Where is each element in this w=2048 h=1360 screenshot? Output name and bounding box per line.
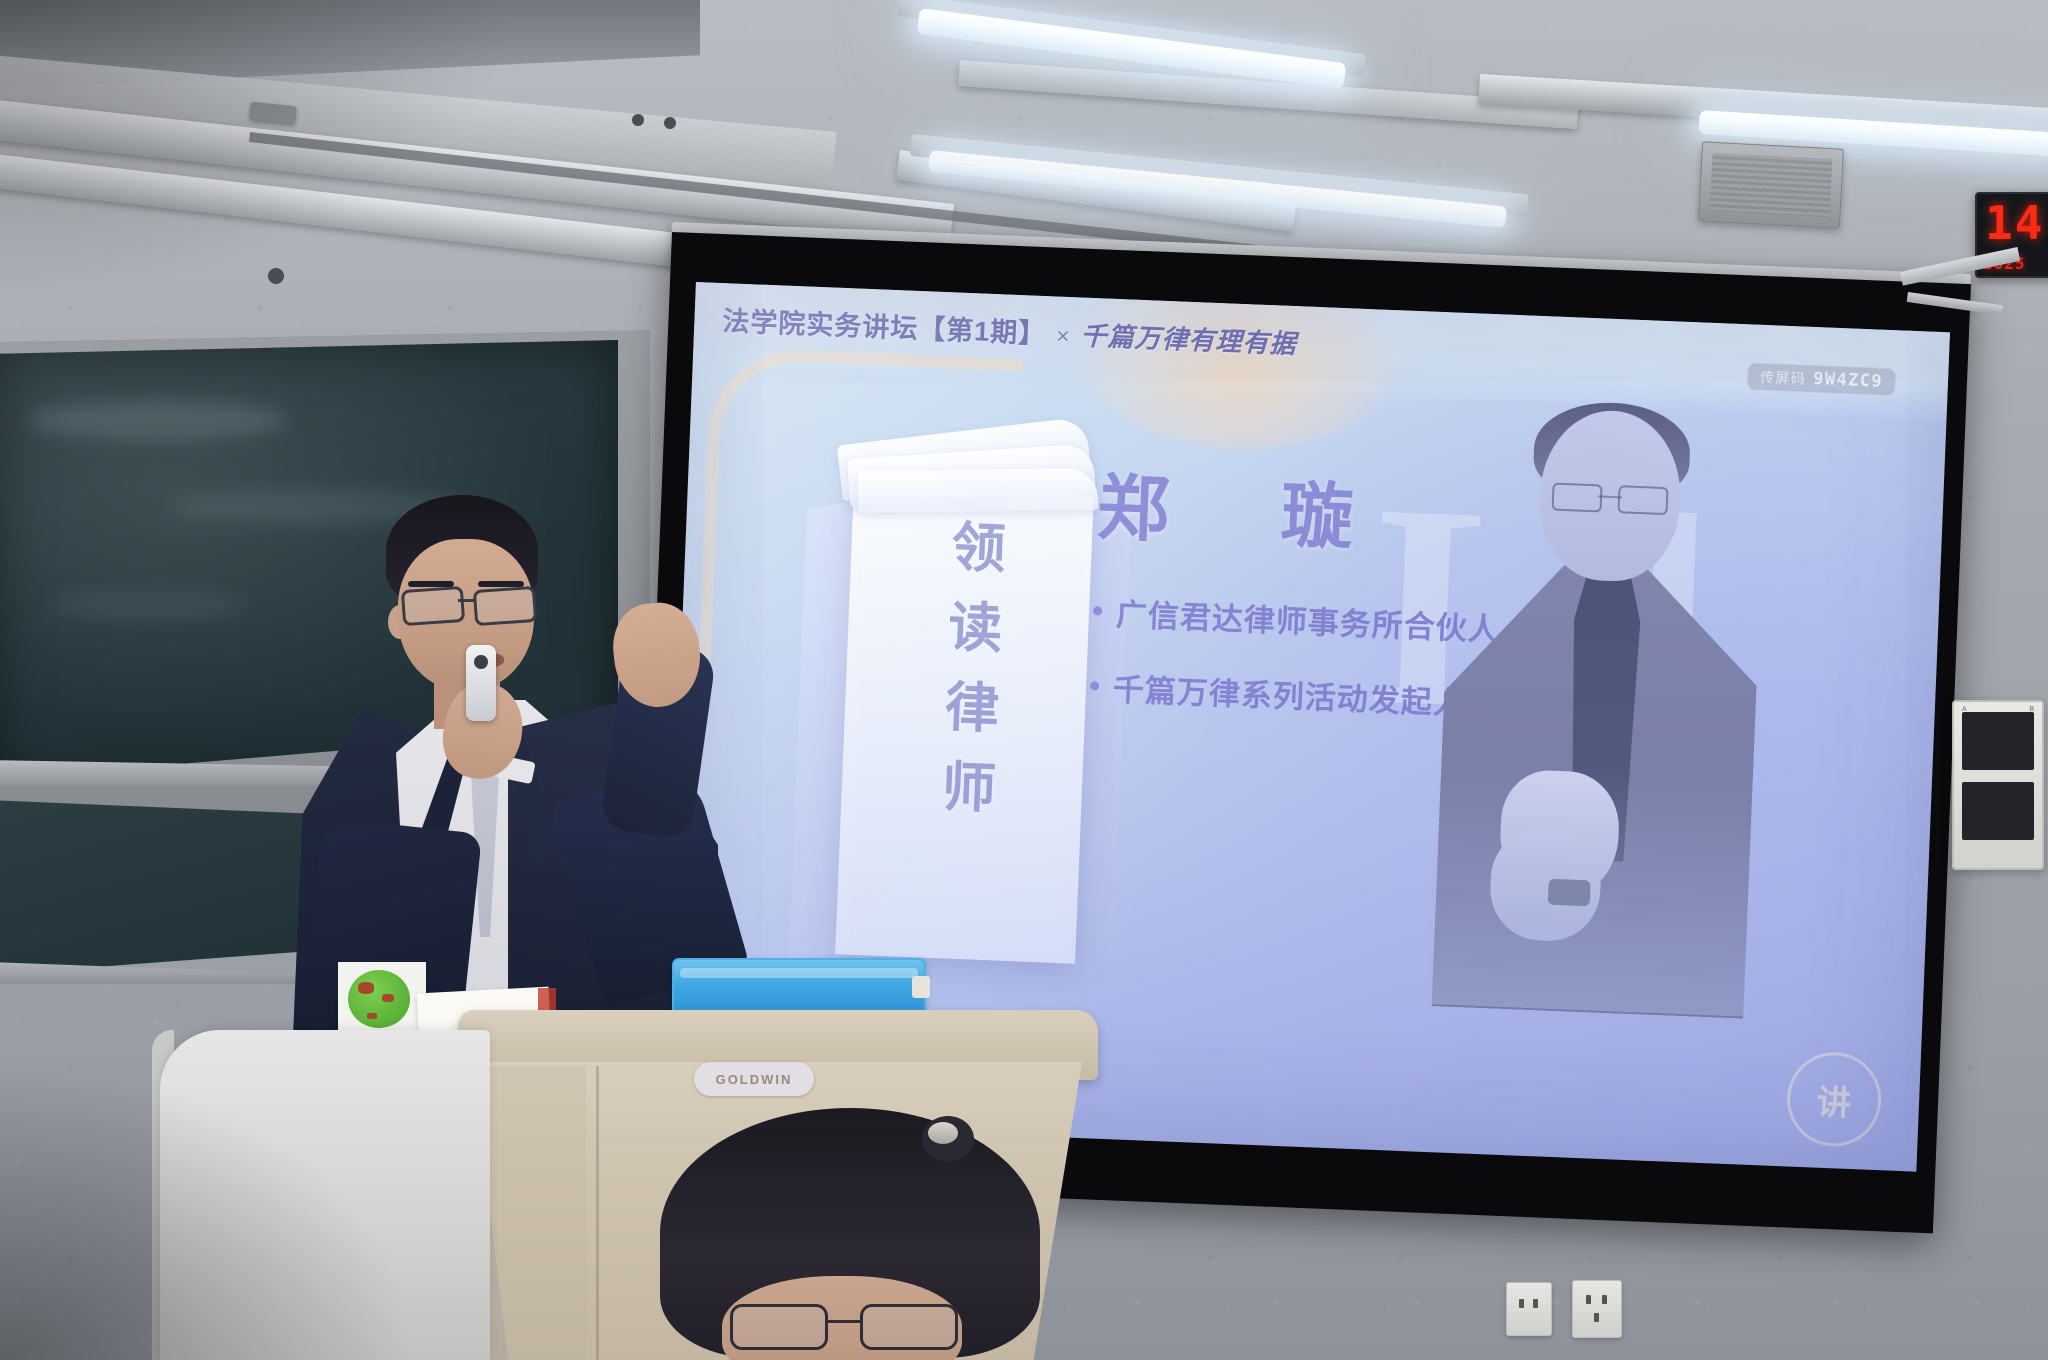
handheld-microphone[interactable] <box>466 645 496 721</box>
corner-shadow <box>0 1060 420 1360</box>
lecture-hall-photo: 14 2025 法学院实务讲坛【第1期】×千篇万律有理有据 传屏码 9W4ZC9 <box>0 0 2048 1360</box>
presenter-glasses-icon <box>400 588 540 622</box>
zipper-pull-icon <box>912 976 930 998</box>
slide-header-partner: 千篇万律有理有据 <box>1080 321 1297 359</box>
screen-share-code-badge: 传屏码 9W4ZC9 <box>1746 362 1896 396</box>
book-title-char: 读 <box>947 600 1003 656</box>
panel-slot[interactable] <box>1962 712 2034 770</box>
book-title-char: 领 <box>950 520 1006 576</box>
slide-speaker-name: 郑 璇 <box>1095 448 1401 565</box>
portrait-fade <box>1428 404 1772 1016</box>
slide-header-separator: × <box>1056 323 1071 350</box>
book-graphic: 领 读 律 师 <box>789 407 1141 980</box>
screen-share-code-value: 9W4ZC9 <box>1813 369 1884 392</box>
book-title-char: 律 <box>944 680 1000 736</box>
wall-control-panel[interactable]: A B <box>1952 700 2044 870</box>
ceiling-screw-icon <box>632 114 644 126</box>
bullet-dot-icon <box>1093 606 1102 615</box>
audience-glasses-icon <box>730 1304 958 1346</box>
slide-seal-logo: 讲 <box>1785 1050 1883 1148</box>
screen-share-code-label: 传屏码 <box>1760 367 1807 389</box>
clock-hour: 14 <box>1985 196 2044 250</box>
podium-side-panel <box>486 1066 586 1360</box>
bullet-text: 千篇万律系列活动发起人 <box>1112 664 1466 723</box>
wall-outlet[interactable] <box>1506 1282 1552 1336</box>
blackboard-lower <box>0 800 318 975</box>
hair-clip-icon <box>928 1122 958 1144</box>
book-page <box>858 468 1098 513</box>
corner-shadow <box>0 0 520 300</box>
panel-slot[interactable] <box>1962 782 2034 840</box>
globe-icon <box>348 970 410 1028</box>
wall-speaker <box>1698 141 1844 228</box>
list-item: 千篇万律系列活动发起人 <box>1089 663 1497 724</box>
book-title-char: 师 <box>941 760 997 816</box>
podium-brand-plate: GOLDWIN <box>694 1062 814 1096</box>
book-vertical-title: 领 读 律 师 <box>923 520 1025 817</box>
bullet-dot-icon <box>1090 681 1099 690</box>
slide-speaker-portrait <box>1428 404 1772 1016</box>
wall-outlet[interactable] <box>1572 1280 1622 1338</box>
desk-card-globe-graphic <box>338 962 426 1036</box>
podium-seam <box>596 1066 599 1360</box>
ceiling-screw-icon <box>664 117 676 129</box>
podium-brand-text: GOLDWIN <box>716 1072 793 1087</box>
audience-member-foreground <box>660 1108 1040 1360</box>
